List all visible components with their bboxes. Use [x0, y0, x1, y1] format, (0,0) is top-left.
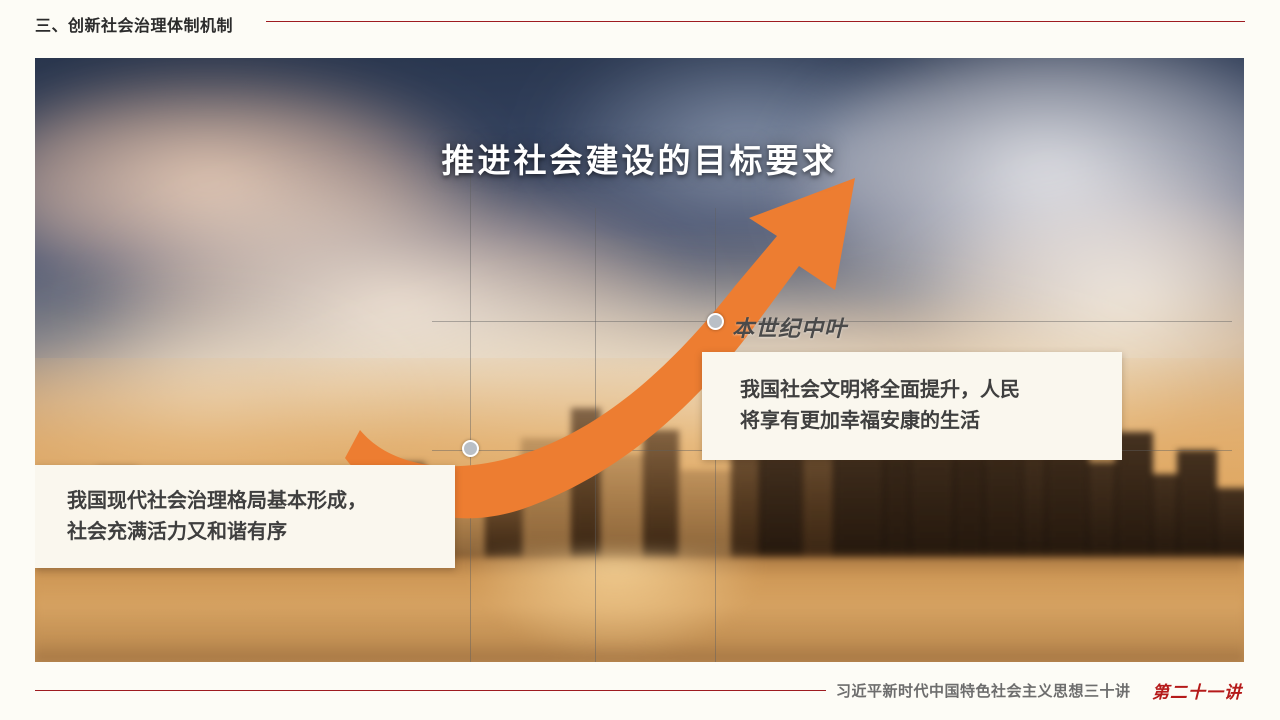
callout-text-2035: 我国现代社会治理格局基本形成， 社会充满活力又和谐有序 [67, 486, 367, 548]
footer-lecture-number: 第二十一讲 [1152, 678, 1242, 703]
year-label-mid-century: 本世纪中叶 [732, 311, 847, 343]
slide-header: 三、创新社会治理体制机制 [0, 0, 1280, 52]
header-divider [266, 21, 1245, 22]
callout-text-mid-century: 我国社会文明将全面提升，人民 将享有更加幸福安康的生活 [740, 375, 1020, 437]
main-heading: 推进社会建设的目标要求 [35, 134, 1244, 182]
background-photo: 推进社会建设的目标要求 2035年 本世纪中叶 我国社会文明将全面提升，人民 将… [35, 58, 1244, 662]
callout-card-2035: 我国现代社会治理格局基本形成， 社会充满活力又和谐有序 [35, 465, 455, 568]
callout-card-mid-century: 我国社会文明将全面提升，人民 将享有更加幸福安康的生活 [702, 352, 1122, 460]
footer-divider [35, 690, 826, 691]
footer-book-title: 习近平新时代中国特色社会主义思想三十讲 [836, 680, 1131, 701]
page-title: 三、创新社会治理体制机制 [35, 12, 233, 36]
milestone-dot-mid-century [707, 313, 724, 330]
slide: 三、创新社会治理体制机制 [0, 0, 1280, 720]
slide-footer: 习近平新时代中国特色社会主义思想三十讲 第二十一讲 [0, 662, 1280, 720]
milestone-dot-2035 [462, 440, 479, 457]
